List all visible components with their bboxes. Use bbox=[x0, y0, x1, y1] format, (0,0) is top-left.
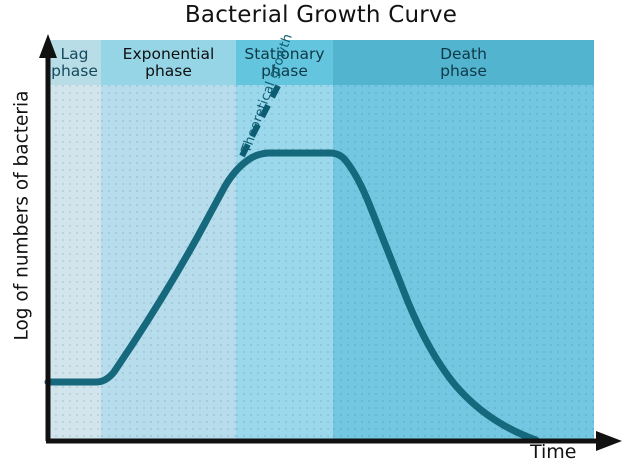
bacterial-growth-curve-line bbox=[48, 153, 536, 440]
plot-area: Lag phase Exponential phase Stationary p bbox=[48, 40, 594, 441]
x-axis-label: Time bbox=[530, 441, 577, 463]
growth-curve-svg bbox=[48, 40, 594, 441]
bacterial-growth-curve-figure: Bacterial Growth Curve Lag phase Exponen… bbox=[0, 0, 642, 471]
y-axis-label: Log of numbers of bacteria bbox=[12, 26, 33, 406]
x-axis-arrowhead bbox=[596, 431, 622, 451]
page-title: Bacterial Growth Curve bbox=[0, 2, 642, 28]
